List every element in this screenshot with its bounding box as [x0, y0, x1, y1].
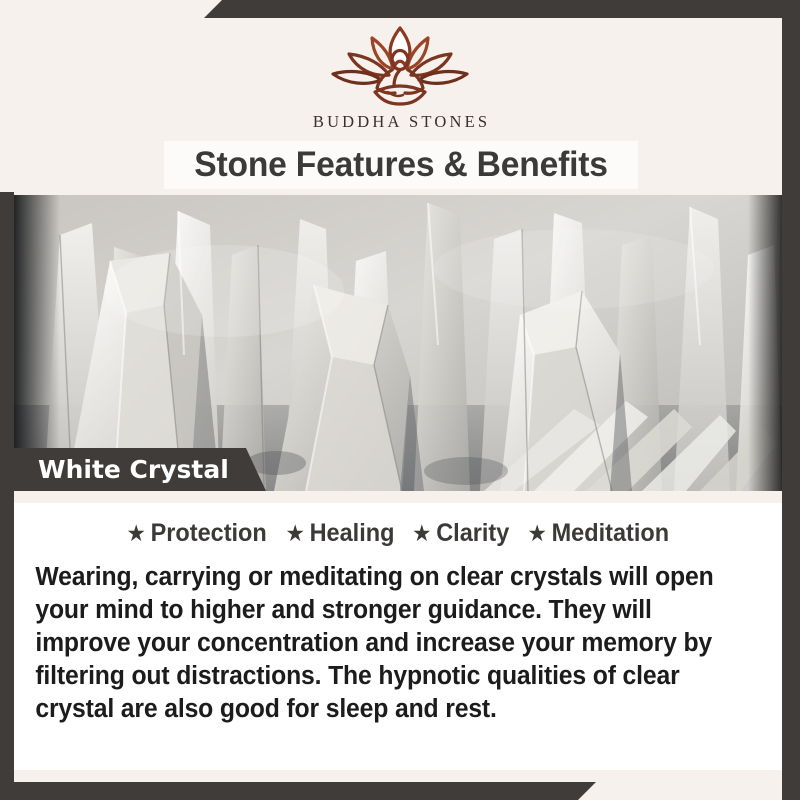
frame-right-accent	[782, 0, 800, 800]
benefit-label: Clarity	[436, 519, 509, 547]
benefit-label: Healing	[310, 519, 395, 547]
crystal-photo	[14, 195, 782, 491]
frame-bottom-accent	[0, 782, 800, 800]
benefit-label: Meditation	[552, 519, 669, 547]
benefit-item: ★Healing	[286, 519, 395, 548]
benefit-label: Protection	[150, 519, 266, 547]
cream-divider-strip	[14, 491, 782, 503]
lotus-meditation-icon	[325, 22, 475, 108]
crystal-photo-image	[14, 195, 782, 491]
content-card: ★Protection★Healing★Clarity★Meditation W…	[14, 503, 782, 770]
stone-name-label: White Crystal	[38, 448, 229, 491]
photo-left-shadow	[14, 195, 60, 491]
brand-name: BUDDHA STONES	[0, 112, 800, 132]
benefits-row: ★Protection★Healing★Clarity★Meditation	[14, 503, 782, 548]
photo-right-shadow	[748, 195, 782, 491]
brand-logo: BUDDHA STONES	[0, 22, 800, 132]
star-icon: ★	[286, 521, 305, 547]
frame-left-accent	[0, 192, 14, 800]
star-icon: ★	[528, 521, 547, 547]
star-icon: ★	[412, 521, 431, 547]
benefit-item: ★Clarity	[412, 519, 509, 548]
description-text: Wearing, carrying or meditating on clear…	[14, 548, 759, 726]
benefit-item: ★Protection	[126, 519, 266, 548]
header-panel: BUDDHA STONES Stone Features & Benefits	[0, 0, 800, 195]
benefit-item: ★Meditation	[528, 519, 670, 548]
page-title: Stone Features & Benefits	[173, 141, 628, 189]
stone-benefits-poster: BUDDHA STONES Stone Features & Benefits	[0, 0, 800, 800]
star-icon: ★	[126, 521, 145, 547]
